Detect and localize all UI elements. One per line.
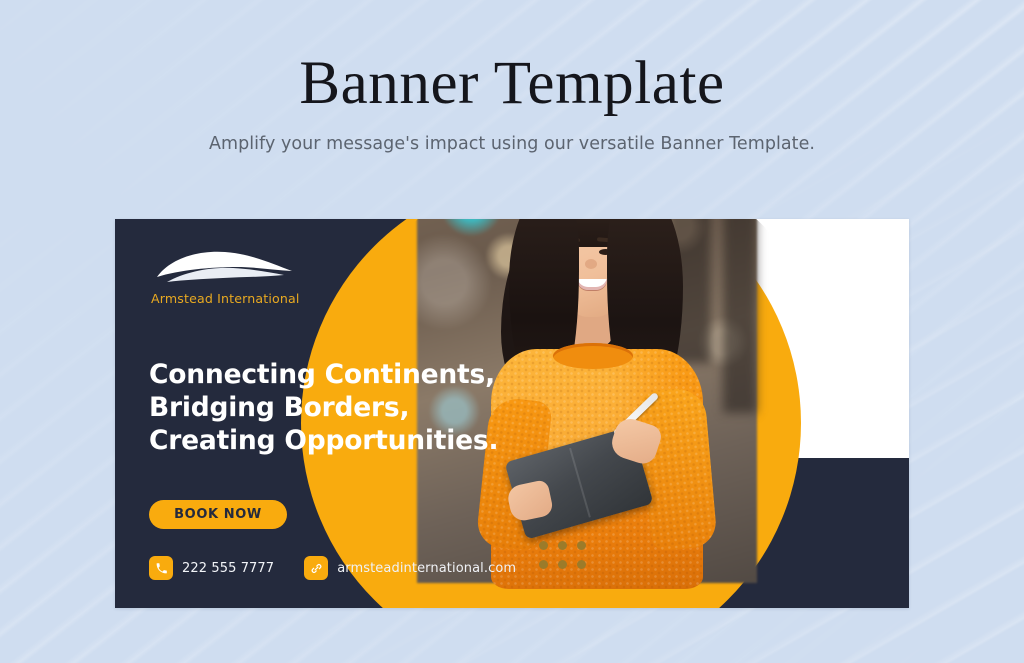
page-root: Banner Template Amplify your message's i… bbox=[0, 0, 1024, 663]
page-title: Banner Template bbox=[0, 52, 1024, 116]
contact-phone[interactable]: 222 555 7777 bbox=[149, 556, 274, 580]
phone-number: 222 555 7777 bbox=[182, 561, 274, 576]
phone-icon bbox=[149, 556, 173, 580]
headline-line-2: Bridging Borders, bbox=[149, 391, 539, 424]
headline-line-1: Connecting Continents, bbox=[149, 358, 539, 391]
contact-row: 222 555 7777 armsteadinternational.com bbox=[149, 556, 516, 580]
banner-headline: Connecting Continents, Bridging Borders,… bbox=[149, 358, 539, 457]
page-subtitle: Amplify your message's impact using our … bbox=[0, 134, 1024, 154]
book-now-button[interactable]: BOOK NOW bbox=[149, 500, 287, 529]
headline-line-3: Creating Opportunities. bbox=[149, 424, 539, 457]
brand-logo-block[interactable]: Armstead International bbox=[151, 244, 351, 306]
dot bbox=[577, 560, 586, 569]
heading-block: Banner Template Amplify your message's i… bbox=[0, 52, 1024, 154]
dot bbox=[539, 541, 548, 550]
website-url: armsteadinternational.com bbox=[337, 561, 516, 576]
dot bbox=[577, 541, 586, 550]
brand-name: Armstead International bbox=[151, 291, 351, 306]
contact-website[interactable]: armsteadinternational.com bbox=[304, 556, 516, 580]
link-icon bbox=[304, 556, 328, 580]
dot-grid-decoration bbox=[539, 541, 586, 569]
dot bbox=[558, 541, 567, 550]
banner-card[interactable]: Armstead International Connecting Contin… bbox=[115, 219, 909, 608]
car-swoosh-logo-icon bbox=[151, 244, 301, 288]
dot bbox=[539, 560, 548, 569]
dot bbox=[558, 560, 567, 569]
